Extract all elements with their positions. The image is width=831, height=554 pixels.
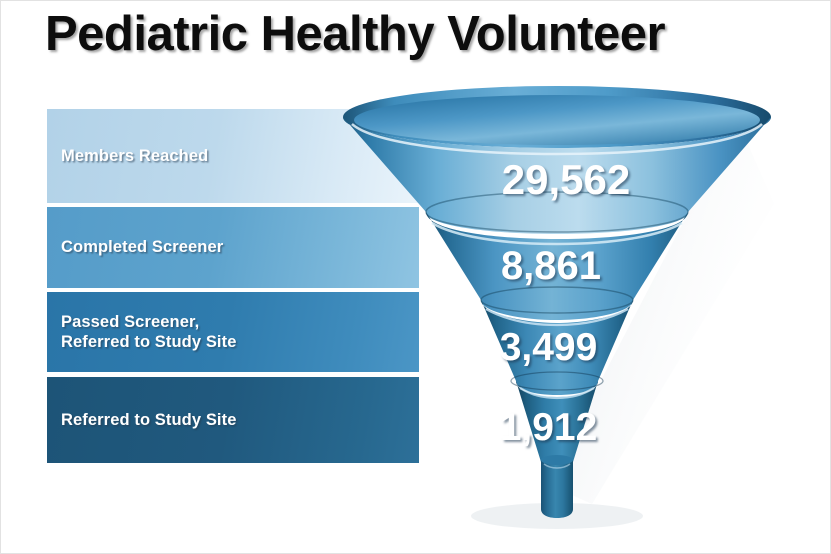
funnel-value-2: 8,861 [431,244,671,289]
funnel-chart-canvas: Pediatric Healthy Volunteer Members Reac… [0,0,831,554]
funnel-value-4: 1,912 [431,406,666,450]
funnel-stage-label-4: Referred to Study Site [47,410,236,430]
funnel-stage-label-3: Passed Screener, Referred to Study Site [47,312,236,352]
funnel-value-1: 29,562 [431,156,701,204]
funnel-stage-label-1: Members Reached [47,146,208,166]
funnel-spout [541,455,573,518]
funnel-graphic [342,84,774,516]
funnel-value-3: 3,499 [431,326,666,370]
funnel-stage-label-2: Completed Screener [47,237,223,257]
page-title: Pediatric Healthy Volunteer [45,9,805,60]
